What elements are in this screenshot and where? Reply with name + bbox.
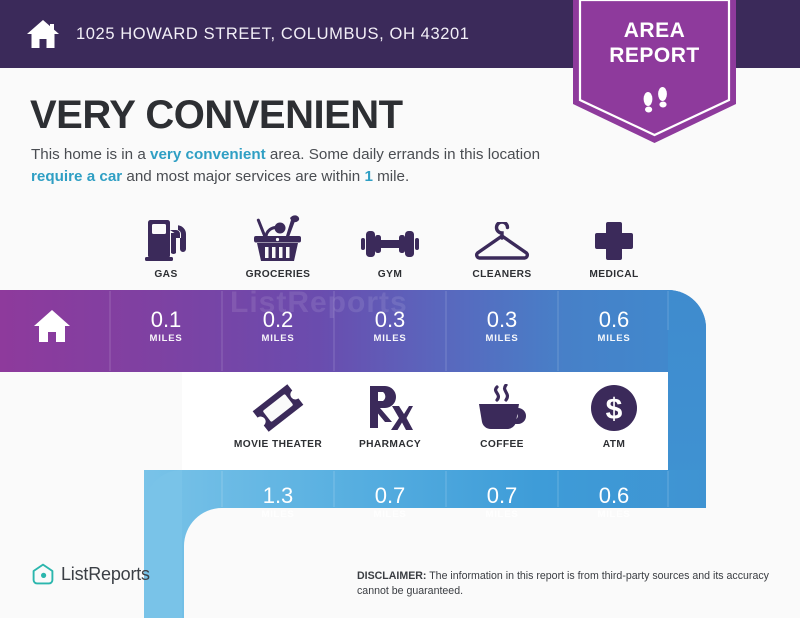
badge-line-1: AREA	[573, 18, 736, 43]
dollar-circle-icon: $	[590, 382, 638, 432]
subtitle-highlight-3: 1	[364, 168, 372, 185]
distance-unit: MILES	[485, 509, 518, 520]
subtitle-part-3: and most major services are within	[122, 168, 364, 185]
distance-movie-theater: 1.3 MILES	[222, 472, 334, 532]
home-marker-icon	[32, 306, 72, 346]
page-subtitle: This home is in a very convenient area. …	[31, 144, 576, 188]
distance-gym: 0.3 MILES	[334, 296, 446, 356]
disclaimer-label: DISCLAIMER:	[357, 570, 426, 582]
home-icon	[26, 18, 60, 50]
subtitle-part-2: area. Some daily errands in this locatio…	[266, 146, 540, 163]
distance-unit: MILES	[373, 509, 406, 520]
area-report-badge: AREA REPORT	[573, 0, 736, 143]
amenity-icon-row-1: GAS	[110, 212, 670, 280]
page-title: VERY CONVENIENT	[30, 92, 403, 138]
property-address: 1025 HOWARD STREET, COLUMBUS, OH 43201	[76, 25, 470, 44]
clothes-hanger-icon	[474, 212, 530, 262]
subtitle-part-4: mile.	[373, 168, 409, 185]
svg-text:$: $	[606, 393, 623, 426]
distance-unit: MILES	[149, 333, 182, 344]
amenity-gas: GAS	[110, 212, 222, 280]
distance-value: 0.7	[375, 484, 406, 508]
distance-coffee: 0.7 MILES	[446, 472, 558, 532]
amenity-label: ATM	[603, 439, 626, 450]
listreports-logo: ListReports	[32, 563, 150, 585]
subtitle-highlight-2: require a car	[31, 168, 122, 185]
footprints-icon	[639, 86, 673, 120]
distance-value: 0.6	[599, 484, 630, 508]
distance-unit: MILES	[373, 333, 406, 344]
amenity-coffee: COFFEE	[446, 382, 558, 450]
gas-pump-icon	[145, 212, 187, 262]
amenity-label: GAS	[154, 269, 177, 280]
movie-ticket-icon	[252, 382, 304, 432]
area-report-infographic: ListReports 1025 HOWARD STREET, COLUMBUS…	[0, 0, 800, 618]
amenity-medical: MEDICAL	[558, 212, 670, 280]
distance-unit: MILES	[261, 333, 294, 344]
distance-value: 0.7	[487, 484, 518, 508]
amenity-label: CLEANERS	[472, 269, 531, 280]
distance-unit: MILES	[597, 509, 630, 520]
subtitle-part-1: This home is in a	[31, 146, 150, 163]
coffee-cup-icon	[475, 382, 529, 432]
listreports-wordmark: ListReports	[61, 564, 150, 585]
distance-groceries: 0.2 MILES	[222, 296, 334, 356]
distance-unit: MILES	[485, 333, 518, 344]
distance-value: 0.6	[599, 308, 630, 332]
distance-medical: 0.6 MILES	[558, 296, 670, 356]
distance-pharmacy: 0.7 MILES	[334, 472, 446, 532]
distance-cleaners: 0.3 MILES	[446, 296, 558, 356]
amenity-atm: $ ATM	[558, 382, 670, 450]
distance-value: 0.2	[263, 308, 294, 332]
amenity-label: PHARMACY	[359, 439, 421, 450]
distance-value: 0.3	[487, 308, 518, 332]
distance-unit: MILES	[597, 333, 630, 344]
listreports-house-icon	[32, 563, 54, 585]
medical-cross-icon	[593, 212, 635, 262]
amenity-cleaners: CLEANERS	[446, 212, 558, 280]
dumbbell-icon	[361, 212, 419, 262]
distance-unit: MILES	[261, 509, 294, 520]
distance-value: 0.3	[375, 308, 406, 332]
amenity-label: GROCERIES	[246, 269, 311, 280]
amenity-gym: GYM	[334, 212, 446, 280]
prescription-rx-icon	[367, 382, 413, 432]
distance-value: 0.1	[151, 308, 182, 332]
distance-values-row-2: 1.3 MILES 0.7 MILES 0.7 MILES 0.6 MILES	[222, 472, 670, 532]
amenity-icon-row-2: MOVIE THEATER PHARMACY	[222, 382, 670, 450]
distance-atm: 0.6 MILES	[558, 472, 670, 532]
disclaimer: DISCLAIMER: The information in this repo…	[357, 569, 772, 599]
amenity-label: COFFEE	[480, 439, 524, 450]
amenity-label: GYM	[378, 269, 402, 280]
subtitle-highlight-1: very convenient	[150, 146, 266, 163]
amenity-label: MEDICAL	[589, 269, 638, 280]
amenity-pharmacy: PHARMACY	[334, 382, 446, 450]
distance-values-row-1: 0.1 MILES 0.2 MILES 0.3 MILES 0.3 MILES …	[110, 296, 670, 356]
amenity-movie-theater: MOVIE THEATER	[222, 382, 334, 450]
grocery-basket-icon	[252, 212, 304, 262]
badge-line-2: REPORT	[573, 43, 736, 68]
amenity-groceries: GROCERIES	[222, 212, 334, 280]
distance-value: 1.3	[263, 484, 294, 508]
badge-title: AREA REPORT	[573, 18, 736, 68]
distance-gas: 0.1 MILES	[110, 296, 222, 356]
amenity-label: MOVIE THEATER	[234, 439, 322, 450]
